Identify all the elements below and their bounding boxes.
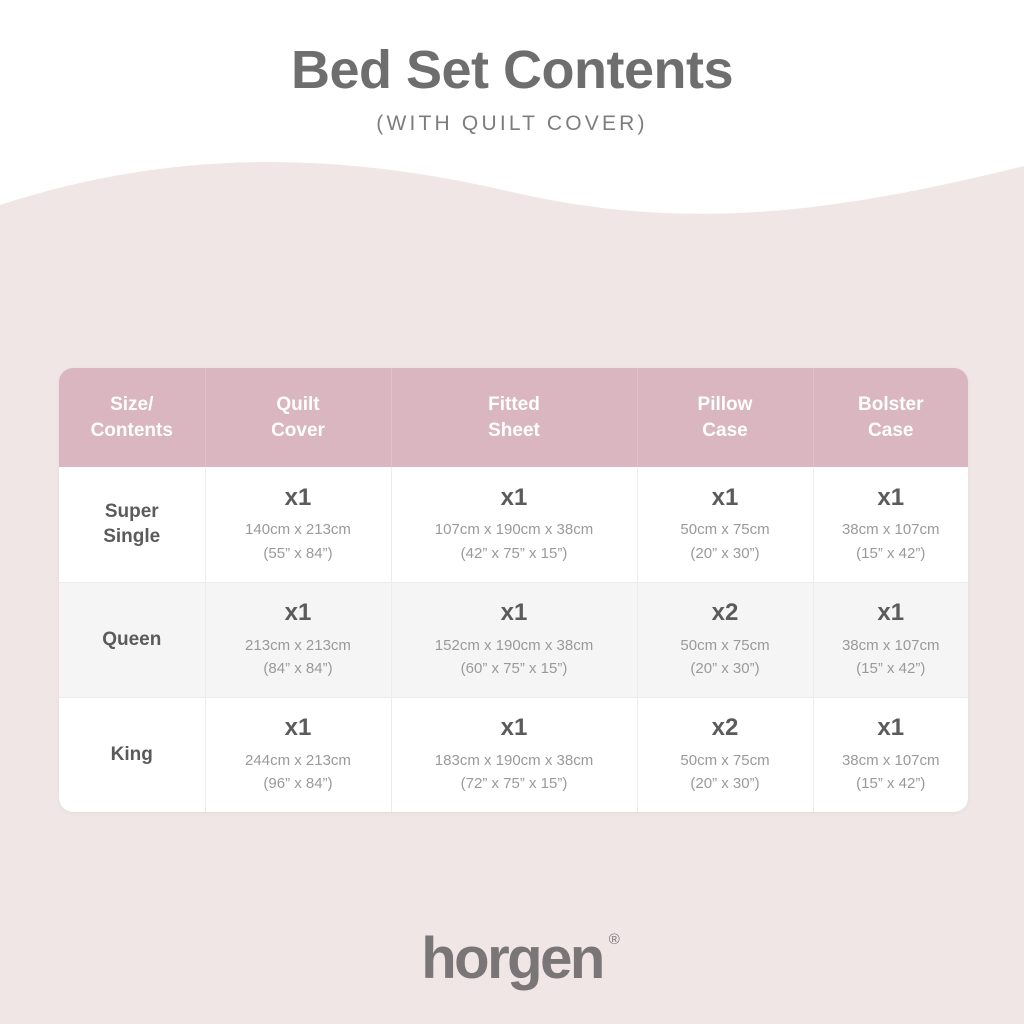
cell-dimension-cm: 50cm x 75cm bbox=[644, 749, 807, 772]
cell-quantity: x1 bbox=[820, 484, 963, 513]
cell-dimension-cm: 152cm x 190cm x 38cm bbox=[398, 634, 631, 657]
cell-quantity: x1 bbox=[820, 599, 963, 628]
contents-table: Size/ Contents Quilt Cover Fitted Sheet … bbox=[59, 368, 968, 812]
page-footer: horgen® bbox=[0, 894, 1024, 1024]
page-header: Bed Set Contents (WITH QUILT COVER) bbox=[0, 0, 1024, 136]
cell-bolster-case: x1 38cm x 107cm (15” x 42”) bbox=[813, 467, 968, 582]
registered-trademark-icon: ® bbox=[609, 932, 620, 947]
page-subtitle: (WITH QUILT COVER) bbox=[0, 112, 1024, 136]
cell-quantity: x1 bbox=[212, 484, 385, 513]
row-label-super-single: Super Single bbox=[59, 467, 205, 582]
column-header-fitted-sheet: Fitted Sheet bbox=[391, 368, 637, 467]
column-header-line2: Case bbox=[702, 420, 747, 441]
brand-logo-text: horgen bbox=[421, 926, 603, 991]
cell-dimension-cm: 140cm x 213cm bbox=[212, 518, 385, 541]
column-header-bolster-case: Bolster Case bbox=[813, 368, 968, 467]
table-row: King x1 244cm x 213cm (96” x 84”) x1 183… bbox=[59, 697, 968, 812]
cell-dimension-cm: 213cm x 213cm bbox=[212, 634, 385, 657]
cell-quantity: x1 bbox=[398, 714, 631, 743]
cell-pillow-case: x2 50cm x 75cm (20” x 30”) bbox=[637, 582, 813, 697]
cell-dimension-cm: 38cm x 107cm bbox=[820, 634, 963, 657]
table-row: Queen x1 213cm x 213cm (84” x 84”) x1 15… bbox=[59, 582, 968, 697]
cell-dimension-inch: (96” x 84”) bbox=[212, 772, 385, 795]
table-header-row: Size/ Contents Quilt Cover Fitted Sheet … bbox=[59, 368, 968, 467]
cell-dimension-inch: (20” x 30”) bbox=[644, 657, 807, 680]
cell-fitted-sheet: x1 107cm x 190cm x 38cm (42” x 75” x 15”… bbox=[391, 467, 637, 582]
cell-pillow-case: x2 50cm x 75cm (20” x 30”) bbox=[637, 697, 813, 812]
cell-dimension-inch: (15” x 42”) bbox=[820, 657, 963, 680]
cell-dimension-cm: 38cm x 107cm bbox=[820, 749, 963, 772]
cell-dimension-inch: (60” x 75” x 15”) bbox=[398, 657, 631, 680]
bed-set-contents-table: Size/ Contents Quilt Cover Fitted Sheet … bbox=[59, 368, 968, 812]
column-header-line1: Bolster bbox=[858, 394, 923, 415]
cell-dimension-inch: (42” x 75” x 15”) bbox=[398, 542, 631, 565]
cell-quilt-cover: x1 140cm x 213cm (55” x 84”) bbox=[205, 467, 391, 582]
column-header-pillow-case: Pillow Case bbox=[637, 368, 813, 467]
cell-quantity: x1 bbox=[820, 714, 963, 743]
column-header-size-contents: Size/ Contents bbox=[59, 368, 205, 467]
cell-quantity: x1 bbox=[398, 484, 631, 513]
infographic-page: Bed Set Contents (WITH QUILT COVER) Size… bbox=[0, 0, 1024, 1024]
cell-dimension-cm: 107cm x 190cm x 38cm bbox=[398, 518, 631, 541]
cell-dimension-cm: 244cm x 213cm bbox=[212, 749, 385, 772]
cell-dimension-cm: 50cm x 75cm bbox=[644, 518, 807, 541]
cell-quantity: x1 bbox=[644, 484, 807, 513]
cell-dimension-inch: (84” x 84”) bbox=[212, 657, 385, 680]
row-label-line1: Super bbox=[105, 501, 159, 522]
cell-quilt-cover: x1 244cm x 213cm (96” x 84”) bbox=[205, 697, 391, 812]
column-header-quilt-cover: Quilt Cover bbox=[205, 368, 391, 467]
cell-bolster-case: x1 38cm x 107cm (15” x 42”) bbox=[813, 582, 968, 697]
table-head: Size/ Contents Quilt Cover Fitted Sheet … bbox=[59, 368, 968, 467]
cell-dimension-inch: (55” x 84”) bbox=[212, 542, 385, 565]
column-header-line2: Sheet bbox=[488, 420, 540, 441]
cell-quantity: x2 bbox=[644, 714, 807, 743]
cell-dimension-inch: (20” x 30”) bbox=[644, 542, 807, 565]
table-body: Super Single x1 140cm x 213cm (55” x 84”… bbox=[59, 467, 968, 812]
column-header-line2: Cover bbox=[271, 420, 325, 441]
cell-pillow-case: x1 50cm x 75cm (20” x 30”) bbox=[637, 467, 813, 582]
row-label-queen: Queen bbox=[59, 582, 205, 697]
cell-dimension-cm: 183cm x 190cm x 38cm bbox=[398, 749, 631, 772]
cell-dimension-inch: (15” x 42”) bbox=[820, 542, 963, 565]
column-header-line1: Quilt bbox=[276, 394, 319, 415]
cell-dimension-inch: (20” x 30”) bbox=[644, 772, 807, 795]
cell-bolster-case: x1 38cm x 107cm (15” x 42”) bbox=[813, 697, 968, 812]
cell-dimension-inch: (15” x 42”) bbox=[820, 772, 963, 795]
column-header-line1: Pillow bbox=[698, 394, 753, 415]
cell-dimension-cm: 50cm x 75cm bbox=[644, 634, 807, 657]
row-label-line1: Queen bbox=[102, 629, 161, 650]
column-header-line1: Fitted bbox=[488, 394, 540, 415]
cell-quantity: x1 bbox=[212, 599, 385, 628]
cell-quantity: x1 bbox=[398, 599, 631, 628]
row-label-line2: Single bbox=[103, 526, 160, 547]
cell-quantity: x1 bbox=[212, 714, 385, 743]
column-header-line1: Size/ bbox=[110, 394, 153, 415]
row-label-line1: King bbox=[111, 744, 153, 765]
row-label-king: King bbox=[59, 697, 205, 812]
page-title: Bed Set Contents bbox=[0, 42, 1024, 99]
cell-fitted-sheet: x1 152cm x 190cm x 38cm (60” x 75” x 15”… bbox=[391, 582, 637, 697]
column-header-line2: Contents bbox=[91, 420, 173, 441]
cell-quilt-cover: x1 213cm x 213cm (84” x 84”) bbox=[205, 582, 391, 697]
cell-dimension-cm: 38cm x 107cm bbox=[820, 518, 963, 541]
table-row: Super Single x1 140cm x 213cm (55” x 84”… bbox=[59, 467, 968, 582]
column-header-line2: Case bbox=[868, 420, 913, 441]
cell-dimension-inch: (72” x 75” x 15”) bbox=[398, 772, 631, 795]
brand-logo: horgen® bbox=[421, 930, 603, 988]
cell-quantity: x2 bbox=[644, 599, 807, 628]
cell-fitted-sheet: x1 183cm x 190cm x 38cm (72” x 75” x 15”… bbox=[391, 697, 637, 812]
